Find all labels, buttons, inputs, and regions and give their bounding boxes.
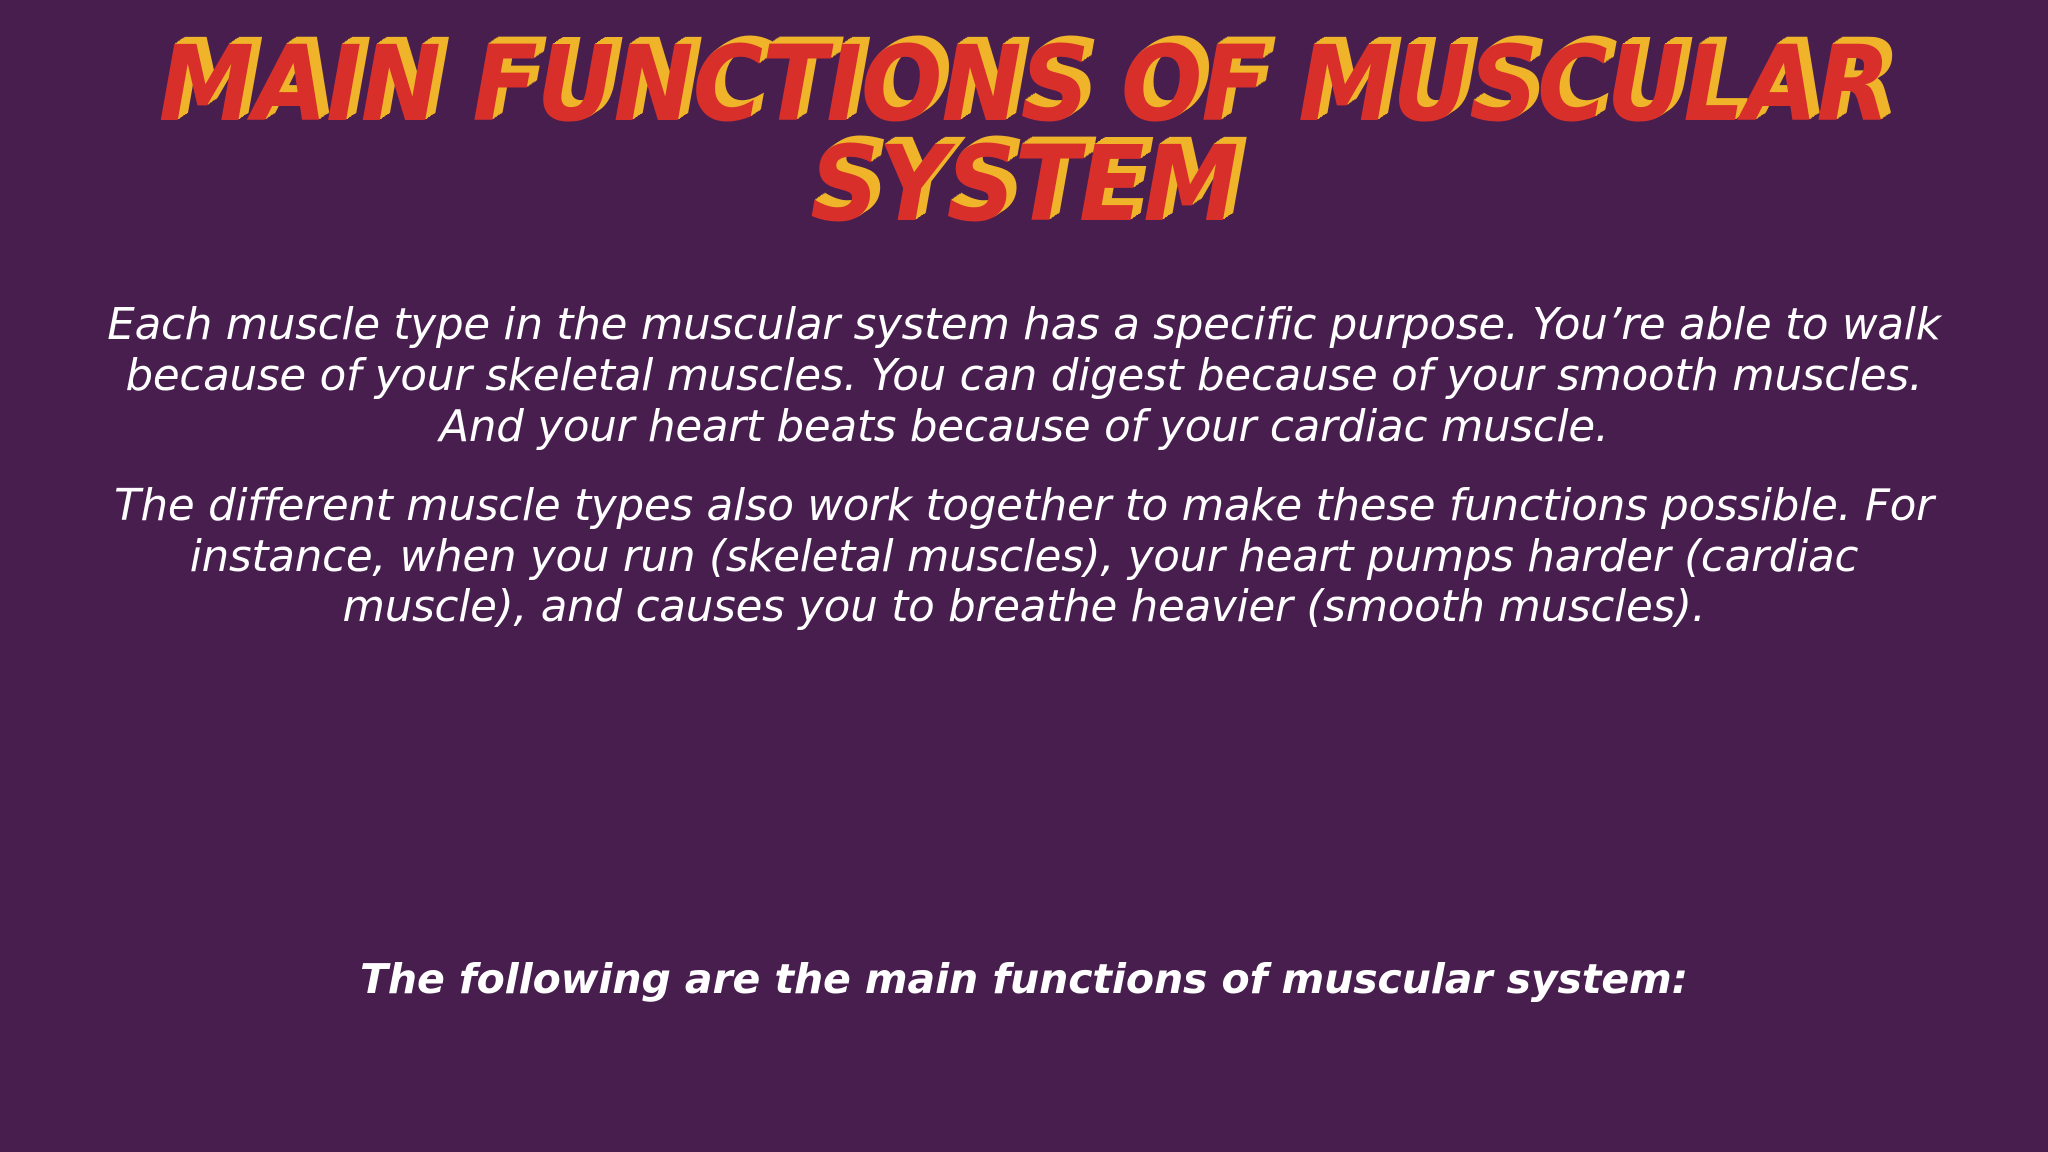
closing-line: The following are the main functions of …: [104, 955, 1944, 1004]
title-line-1: Main Functions of Muscular: [82, 36, 1966, 134]
slide-body: Each muscle type in the muscular system …: [104, 300, 1944, 633]
body-paragraph-2: The different muscle types also work tog…: [104, 481, 1944, 634]
slide-closing: The following are the main functions of …: [104, 955, 1944, 1004]
body-paragraph-1: Each muscle type in the muscular system …: [104, 300, 1944, 453]
slide-root: Main Functions of Muscular System Each m…: [0, 0, 2048, 1152]
title-line-2: System: [82, 136, 1966, 234]
slide-title: Main Functions of Muscular System: [0, 36, 2048, 234]
